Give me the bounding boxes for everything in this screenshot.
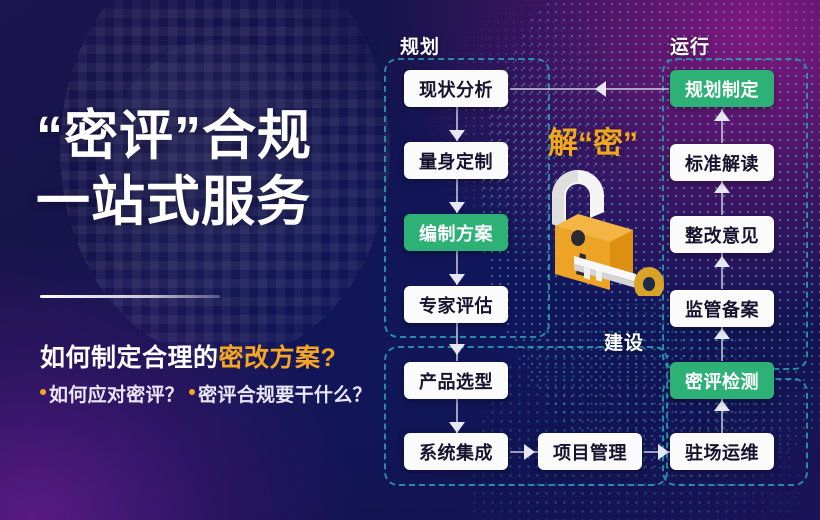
node-xianzhuang-fenxi[interactable]: 现状分析 [404, 70, 508, 107]
connector-n4-n5 [456, 323, 458, 361]
node-jianguan-bei-an[interactable]: 监管备案 [670, 290, 774, 327]
arrow-n3-n4-icon [449, 274, 465, 285]
node-biaozhun-jiedu[interactable]: 标准解读 [670, 144, 774, 181]
arrow-n4-n5-icon [449, 344, 465, 355]
arrow-n7-n8-icon [658, 444, 669, 460]
node-zhenggai-yijian[interactable]: 整改意见 [670, 216, 774, 253]
arrow-n5-n6-icon [449, 422, 465, 433]
node-bianzhi-fangan[interactable]: 编制方案 [404, 214, 508, 251]
arrow-n8-n9-icon [714, 400, 730, 411]
group-label-construction: 建设 [604, 328, 644, 355]
arrow-n11-n12-icon [714, 182, 730, 193]
arrow-n1-n2-icon [449, 130, 465, 141]
group-label-planning: 规划 [400, 32, 440, 59]
node-chanpin-xuanxing[interactable]: 产品选型 [404, 362, 508, 399]
node-xitong-jicheng[interactable]: 系统集成 [404, 433, 508, 470]
arrow-n2-n3-icon [449, 202, 465, 213]
lock-illustration: 解“密” [518, 118, 668, 298]
connector-n13-n1 [510, 88, 669, 90]
process-flow-diagram: 规划 运行 建设 现状分析 量 [0, 0, 820, 520]
arrow-n9-n10-icon [714, 328, 730, 339]
group-label-operation: 运行 [670, 32, 710, 59]
arrow-n13-n1-icon [595, 81, 606, 97]
poster-canvas: “密评”合规 一站式服务 如何制定合理的密改方案? 如何应对密评？密评合规要干什… [0, 0, 820, 520]
arrow-n12-n13-icon [714, 110, 730, 121]
node-miping-jiance[interactable]: 密评检测 [670, 362, 774, 399]
node-zhuanjia-pinggu[interactable]: 专家评估 [404, 286, 508, 323]
arrow-n10-n11-icon [714, 256, 730, 267]
node-xiangmu-guanli[interactable]: 项目管理 [538, 433, 642, 470]
node-liangshen-dingzhi[interactable]: 量身定制 [404, 142, 508, 179]
arrow-n6-n7-icon [524, 444, 535, 460]
padlock-with-key-icon [518, 156, 668, 296]
node-guihua-zhiding[interactable]: 规划制定 [670, 70, 774, 107]
node-zhuchang-yunwei[interactable]: 驻场运维 [670, 433, 774, 470]
